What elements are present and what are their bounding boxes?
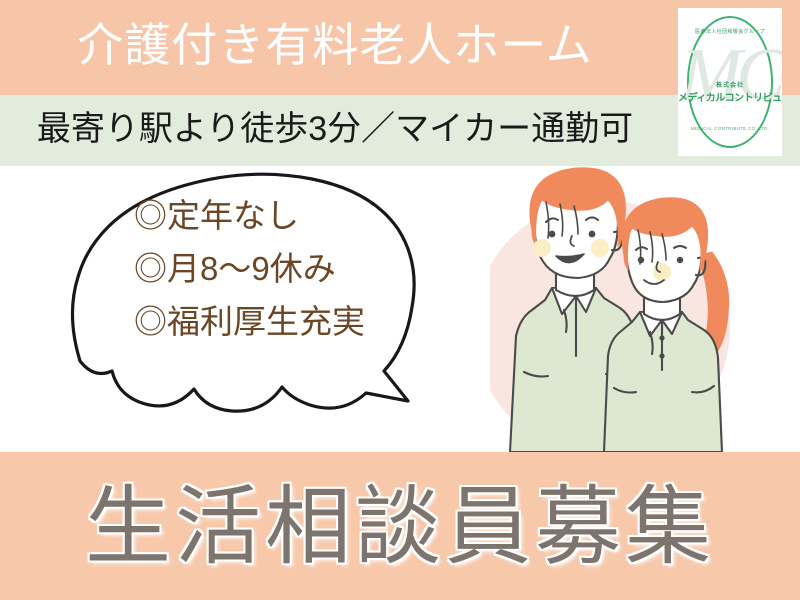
bubble-line-1: ◎定年なし xyxy=(134,189,474,242)
banner-job-title: 生活相談員募集 xyxy=(0,472,800,582)
logo-company-type: 株式会社 xyxy=(678,80,782,89)
speech-bubble: ◎定年なし ◎月8〜9休み ◎福利厚生充実 xyxy=(60,165,480,435)
headline-facility-type: 介護付き有料老人ホーム xyxy=(0,12,670,78)
subline-access-info: 最寄り駅より徒歩3分／マイカー通勤可 xyxy=(0,104,670,154)
company-logo: MC 医療法人社団和敬会グループ 株式会社 メディカルコントリビュート MEDI… xyxy=(678,8,782,156)
logo-romanized-name: MEDICAL CONTRIBUTE CO.,LTD. xyxy=(678,126,782,131)
bubble-line-2: ◎月8〜9休み xyxy=(134,242,474,295)
caregivers-illustration xyxy=(490,160,800,452)
bubble-line-3: ◎福利厚生充実 xyxy=(134,295,474,348)
logo-group-text: 医療法人社団和敬会グループ xyxy=(678,28,782,35)
job-ad-poster: 介護付き有料老人ホーム 最寄り駅より徒歩3分／マイカー通勤可 MC 医療法人社団… xyxy=(0,0,800,600)
bubble-benefits-list: ◎定年なし ◎月8〜9休み ◎福利厚生充実 xyxy=(134,189,474,348)
logo-company-name: メディカルコントリビュート xyxy=(678,89,782,104)
logo-monogram: MC xyxy=(678,30,782,120)
